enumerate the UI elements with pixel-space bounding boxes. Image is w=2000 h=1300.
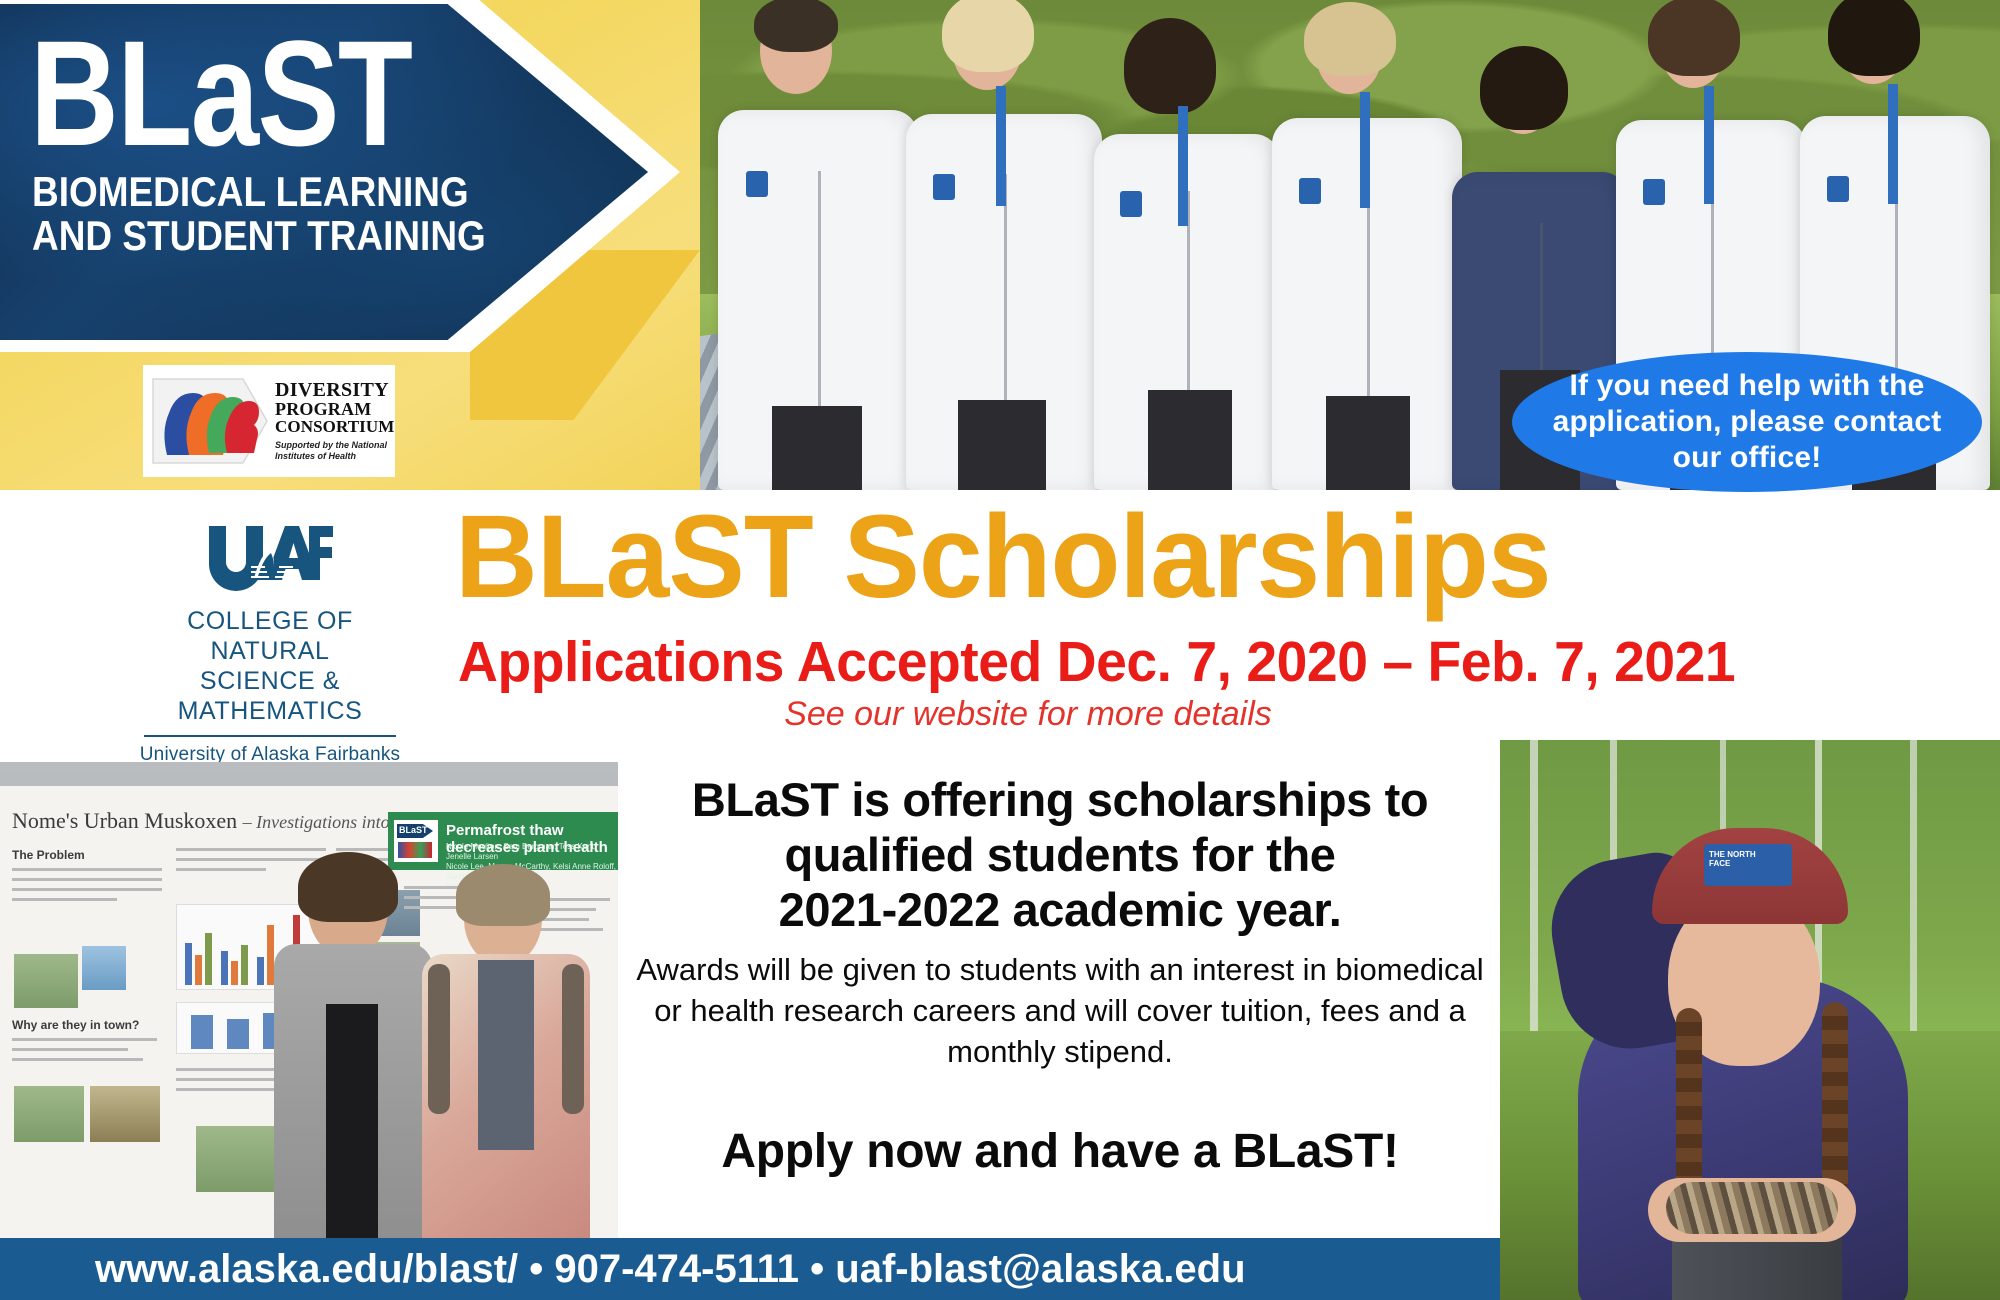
labcoat-badge (746, 171, 768, 197)
person-hair (1828, 0, 1920, 76)
labcoat-badge (933, 174, 955, 200)
labcoat-badge (1120, 191, 1142, 217)
footer-contact-text[interactable]: www.alaska.edu/blast/ • 907-474-5111 • u… (0, 1247, 1246, 1292)
application-dates: Applications Accepted Dec. 7, 2020 – Feb… (458, 632, 1816, 692)
poster-section-heading: Why are they in town? (12, 1018, 139, 1032)
uaf-wordmark-icon (205, 522, 335, 596)
labcoat-badge (1643, 179, 1665, 205)
photo-student-with-chicks (1500, 740, 2000, 1300)
person-student (268, 860, 436, 1240)
body-call-to-action: Apply now and have a BLaST! (630, 1124, 1490, 1180)
body-lead-line3: 2021-2022 academic year. (630, 882, 1490, 937)
body-lead-line1: BLaST is offering scholarships to (630, 772, 1490, 827)
person-hair (1480, 46, 1568, 130)
person-lanyard (996, 86, 1006, 206)
person-legs (1148, 390, 1232, 490)
person-hair (456, 864, 550, 926)
labcoat-badge (1299, 178, 1321, 204)
person-hair (1124, 18, 1216, 114)
blast-logo-wordmark: BLaST (30, 18, 411, 168)
uaf-college-line1: COLLEGE OF NATURAL (130, 606, 410, 666)
dpc-caption-line2: Institutes of Health (275, 451, 394, 462)
poster-blast-logo (394, 820, 438, 862)
page-title: BLaST Scholarships (455, 498, 1813, 616)
person-lanyard (1704, 86, 1714, 204)
poster-blast-arrow (397, 824, 433, 838)
person-hair (1304, 2, 1396, 76)
person-hair (298, 852, 398, 922)
person-hair (942, 0, 1034, 72)
poster-title-main: Nome's Urban Muskoxen (12, 808, 237, 833)
uaf-logo: COLLEGE OF NATURAL SCIENCE & MATHEMATICS… (130, 522, 410, 766)
help-callout-text: If you need help with the application, p… (1512, 368, 1982, 476)
person-lanyard (1888, 84, 1898, 204)
person-hair (754, 0, 838, 52)
footer-contact-bar: www.alaska.edu/blast/ • 907-474-5111 • u… (0, 1238, 1500, 1300)
chart-bar (221, 951, 228, 985)
chart-bar (231, 961, 238, 985)
headline-section: COLLEGE OF NATURAL SCIENCE & MATHEMATICS… (0, 490, 2000, 740)
poster-figure (82, 946, 126, 990)
body-lead: BLaST is offering scholarships to qualif… (630, 772, 1490, 937)
blast-logo-subtitle: BIOMEDICAL LEARNING AND STUDENT TRAINING (32, 170, 486, 258)
poster-figure (14, 954, 78, 1008)
bird-chicks (1666, 1182, 1838, 1234)
cap-logo-patch (1704, 844, 1792, 886)
dpc-logo-text: DIVERSITY PROGRAM CONSORTIUM Supported b… (275, 380, 394, 463)
chart-bar (205, 933, 212, 985)
person-legs (958, 400, 1046, 490)
chart-bar (227, 1019, 249, 1049)
uaf-college-line2: SCIENCE & MATHEMATICS (130, 666, 410, 726)
blast-logo-panel: BLaST BIOMEDICAL LEARNING AND STUDENT TR… (0, 0, 700, 490)
person-lanyard (1360, 92, 1370, 208)
chart-bar (195, 955, 202, 985)
dpc-line3: CONSORTIUM (275, 418, 394, 435)
help-callout-bubble: If you need help with the application, p… (1512, 352, 1982, 492)
poster-text-lines (12, 868, 162, 908)
blast-logo-subtitle-line2: AND STUDENT TRAINING (32, 214, 486, 258)
poster-figure (90, 1086, 160, 1142)
chart-bar (241, 945, 248, 985)
flyer-page: BLaST BIOMEDICAL LEARNING AND STUDENT TR… (0, 0, 2000, 1300)
body-detail: Awards will be given to students with an… (630, 949, 1490, 1072)
lower-section: Nome's Urban Muskoxen – Investigations i… (0, 740, 2000, 1300)
poster-green-authors-line1: Nicole Moulton, Sam Bergman, Tess Kent, … (446, 842, 618, 862)
person-braid (1822, 1002, 1848, 1202)
poster-dpc-strip (398, 842, 432, 858)
uaf-divider (144, 735, 396, 737)
person-hair (1648, 0, 1740, 76)
blast-logo-subtitle-line1: BIOMEDICAL LEARNING (32, 170, 486, 214)
poster-section-heading: The Problem (12, 848, 85, 862)
diversity-program-consortium-logo: DIVERSITY PROGRAM CONSORTIUM Supported b… (143, 365, 395, 477)
chart-bar (257, 957, 264, 985)
website-note: See our website for more details (458, 695, 1598, 733)
person-lanyard (1178, 106, 1188, 226)
person-top (326, 1004, 378, 1240)
dpc-heads-icon (151, 373, 269, 469)
person-shirt (478, 960, 534, 1150)
chart-bar (185, 943, 192, 985)
photo-poster-session: Nome's Urban Muskoxen – Investigations i… (0, 762, 618, 1240)
dpc-caption-line1: Supported by the National (275, 440, 394, 451)
body-lead-line2: qualified students for the (630, 827, 1490, 882)
person-legs (772, 406, 862, 490)
poster-text-lines (12, 1038, 157, 1068)
chart-bar (191, 1015, 213, 1049)
labcoat-badge (1827, 176, 1849, 202)
poster-figure (14, 1086, 84, 1142)
top-band: BLaST BIOMEDICAL LEARNING AND STUDENT TR… (0, 0, 2000, 490)
person-legs (1326, 396, 1410, 490)
person-backpack-strap (562, 964, 584, 1114)
dpc-line2: PROGRAM (275, 400, 394, 418)
dpc-caption: Supported by the National Institutes of … (275, 440, 394, 463)
body-copy: BLaST is offering scholarships to qualif… (630, 772, 1490, 1180)
dpc-line1: DIVERSITY (275, 380, 394, 400)
person-backpack-strap (428, 964, 450, 1114)
person-mentor (418, 868, 594, 1240)
